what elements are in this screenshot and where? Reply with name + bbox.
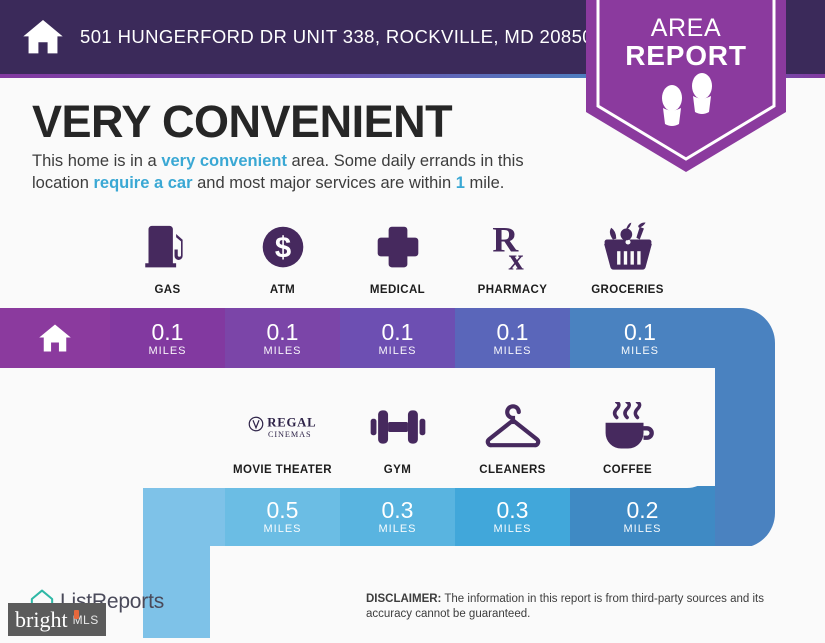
category-label: ATM	[225, 284, 340, 296]
svg-text:REGAL: REGAL	[267, 415, 316, 429]
property-address: 501 HUNGERFORD DR UNIT 338, ROCKVILLE, M…	[80, 26, 593, 48]
summary-part-1: This home is in a	[32, 152, 161, 170]
distance-unit: MILES	[493, 345, 531, 357]
area-report-infographic: 501 HUNGERFORD DR UNIT 338, ROCKVILLE, M…	[0, 0, 825, 638]
row2-distance-coffee: 0.2 MILES	[570, 486, 715, 546]
badge-line-1: AREA	[651, 14, 721, 42]
row2-distance-bar: 0.5 MILES 0.3 MILES 0.3 MILES 0.2 MILES	[143, 486, 715, 546]
home-icon	[22, 16, 64, 58]
category-coffee: COFFEE	[570, 398, 685, 476]
bright-label: bright	[15, 609, 68, 631]
row1-distance-atm: 0.1 MILES	[225, 308, 340, 368]
row2-distance-gym: 0.3 MILES	[340, 486, 455, 546]
summary-highlight-1: very convenient	[161, 152, 287, 170]
distance-unit: MILES	[263, 523, 301, 535]
svg-text:CINEMAS: CINEMAS	[268, 430, 311, 439]
category-label: MEDICAL	[340, 284, 455, 296]
svg-text:x: x	[508, 242, 524, 273]
distance-unit: MILES	[623, 523, 661, 535]
category-label: COFFEE	[570, 464, 685, 476]
row2-icon-strip: REGAL CINEMAS MOVIE THEATER GYM	[225, 398, 800, 476]
distance-value: 0.1	[382, 320, 414, 344]
row1-distance-pharmacy: 0.1 MILES	[455, 308, 570, 368]
bright-mls-watermark: bright MLS	[8, 603, 106, 636]
category-label: MOVIE THEATER	[225, 464, 340, 476]
badge-text: AREA REPORT	[586, 14, 786, 70]
row2-distance-cleaners: 0.3 MILES	[455, 486, 570, 546]
summary-part-3: and most major services are within	[193, 174, 456, 192]
category-groceries: GROCERIES	[570, 218, 685, 296]
distance-unit: MILES	[378, 345, 416, 357]
distance-value: 0.2	[627, 498, 659, 522]
row2-distance-movie-theater: 0.5 MILES	[225, 486, 340, 546]
dumbbell-icon	[340, 398, 455, 456]
grocery-basket-icon	[570, 218, 685, 276]
row1-icon-strip: GAS $ ATM MEDICAL R x	[110, 218, 800, 296]
area-report-badge: AREA REPORT	[586, 0, 786, 172]
distance-unit: MILES	[621, 345, 659, 357]
category-atm: $ ATM	[225, 218, 340, 296]
distance-value: 0.1	[152, 320, 184, 344]
summary-highlight-3: 1	[456, 174, 465, 192]
category-gas: GAS	[110, 218, 225, 296]
dollar-circle-icon: $	[225, 218, 340, 276]
regal-cinemas-logo: REGAL CINEMAS	[225, 398, 340, 456]
distance-unit: MILES	[148, 345, 186, 357]
category-pharmacy: R x PHARMACY	[455, 218, 570, 296]
medical-cross-icon	[340, 218, 455, 276]
category-gym: GYM	[340, 398, 455, 476]
home-icon	[37, 320, 73, 356]
category-movie-theater: REGAL CINEMAS MOVIE THEATER	[225, 398, 340, 476]
category-label: GROCERIES	[570, 284, 685, 296]
category-label: GYM	[340, 464, 455, 476]
summary-highlight-2: require a car	[93, 174, 192, 192]
row2-lead-segment	[143, 486, 225, 546]
distance-value: 0.1	[624, 320, 656, 344]
summary-text: This home is in a very convenient area. …	[32, 150, 580, 194]
category-label: CLEANERS	[455, 464, 570, 476]
row1-distance-medical: 0.1 MILES	[340, 308, 455, 368]
row1-distance-groceries: 0.1 MILES	[570, 308, 710, 368]
svg-text:$: $	[274, 233, 290, 265]
rx-icon: R x	[455, 218, 570, 276]
summary-part-4: mile.	[465, 174, 504, 192]
gas-pump-icon	[110, 218, 225, 276]
category-label: GAS	[110, 284, 225, 296]
disclaimer: DISCLAIMER: The information in this repo…	[366, 592, 796, 622]
distance-unit: MILES	[493, 523, 531, 535]
category-cleaners: CLEANERS	[455, 398, 570, 476]
distance-value: 0.3	[382, 498, 414, 522]
disclaimer-label: DISCLAIMER:	[366, 593, 441, 605]
badge-line-2: REPORT	[586, 42, 786, 70]
coffee-cup-icon	[570, 398, 685, 456]
distance-value: 0.5	[267, 498, 299, 522]
hanger-icon	[455, 398, 570, 456]
distance-value: 0.1	[497, 320, 529, 344]
row1-home-marker	[0, 308, 110, 368]
category-label: PHARMACY	[455, 284, 570, 296]
row1-distance-bar: 0.1 MILES 0.1 MILES 0.1 MILES 0.1 MILES …	[0, 308, 710, 368]
distance-value: 0.1	[267, 320, 299, 344]
row1-distance-gas: 0.1 MILES	[110, 308, 225, 368]
distance-unit: MILES	[378, 523, 416, 535]
distance-unit: MILES	[263, 345, 301, 357]
bright-dot-icon	[74, 610, 79, 619]
category-medical: MEDICAL	[340, 218, 455, 296]
distance-value: 0.3	[497, 498, 529, 522]
page-title: VERY CONVENIENT	[32, 96, 452, 148]
